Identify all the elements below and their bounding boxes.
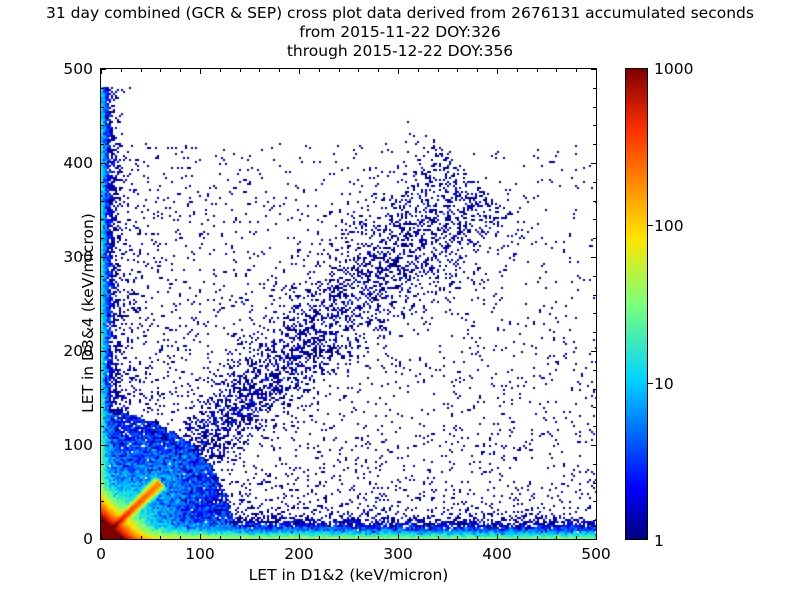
x-tick-label: 200 — [284, 545, 314, 563]
tick-mark — [279, 536, 280, 539]
tick-mark — [121, 69, 122, 72]
tick-mark — [438, 536, 439, 539]
tick-mark — [556, 69, 557, 72]
tick-mark — [299, 69, 300, 74]
tick-mark — [259, 536, 260, 539]
tick-mark — [101, 201, 104, 202]
tick-mark — [101, 88, 104, 89]
tick-mark — [101, 257, 106, 258]
tick-mark — [596, 69, 597, 74]
tick-mark — [593, 483, 596, 484]
tick-mark — [593, 182, 596, 183]
figure-title-line-2: from 2015-11-22 DOY:326 — [0, 23, 800, 42]
tick-mark — [593, 201, 596, 202]
tick-mark — [299, 534, 300, 539]
y-tick-label: 500 — [63, 60, 93, 78]
colorbar-frame — [625, 68, 648, 540]
tick-mark — [101, 295, 104, 296]
tick-mark — [358, 536, 359, 539]
tick-mark — [101, 276, 104, 277]
tick-mark — [457, 536, 458, 539]
tick-mark — [418, 69, 419, 72]
x-tick-label: 500 — [581, 545, 611, 563]
tick-mark — [101, 520, 104, 521]
tick-mark — [593, 276, 596, 277]
tick-mark — [101, 182, 104, 183]
tick-mark — [160, 536, 161, 539]
tick-mark — [596, 534, 597, 539]
tick-mark — [101, 69, 106, 70]
tick-mark — [259, 69, 260, 72]
tick-mark — [591, 445, 596, 446]
tick-mark — [180, 536, 181, 539]
tick-mark — [593, 295, 596, 296]
colorbar-tick-mark — [648, 225, 653, 226]
tick-mark — [591, 69, 596, 70]
figure-title: 31 day combined (GCR & SEP) cross plot d… — [0, 4, 800, 61]
x-tick-label: 100 — [185, 545, 215, 563]
tick-mark — [438, 69, 439, 72]
y-axis-label: LET in D3&4 (keV/micron) — [79, 77, 97, 549]
tick-mark — [537, 536, 538, 539]
tick-mark — [240, 69, 241, 72]
tick-mark — [398, 534, 399, 539]
x-tick-label: 0 — [96, 545, 106, 563]
tick-mark — [101, 332, 104, 333]
tick-mark — [517, 69, 518, 72]
colorbar-tick-mark — [648, 383, 653, 384]
tick-mark — [497, 534, 498, 539]
tick-mark — [593, 520, 596, 521]
tick-mark — [141, 69, 142, 72]
x-axis-label: LET in D1&2 (keV/micron) — [100, 566, 597, 584]
tick-mark — [593, 88, 596, 89]
tick-mark — [477, 536, 478, 539]
tick-mark — [593, 407, 596, 408]
tick-mark — [418, 536, 419, 539]
tick-mark — [101, 483, 104, 484]
tick-mark — [591, 539, 596, 540]
tick-mark — [101, 351, 106, 352]
tick-mark — [101, 464, 104, 465]
tick-mark — [517, 536, 518, 539]
tick-mark — [358, 69, 359, 72]
tick-mark — [101, 219, 104, 220]
tick-mark — [593, 332, 596, 333]
colorbar-tick-label: 1 — [654, 532, 664, 550]
tick-mark — [497, 69, 498, 74]
tick-mark — [593, 107, 596, 108]
density-scatter-plot — [101, 69, 596, 539]
tick-mark — [339, 536, 340, 539]
tick-mark — [576, 69, 577, 72]
figure-canvas: 31 day combined (GCR & SEP) cross plot d… — [0, 0, 800, 600]
tick-mark — [101, 370, 104, 371]
x-tick-label: 300 — [383, 545, 413, 563]
tick-mark — [220, 69, 221, 72]
tick-mark — [593, 125, 596, 126]
figure-title-line-1: 31 day combined (GCR & SEP) cross plot d… — [0, 4, 800, 23]
tick-mark — [101, 539, 106, 540]
tick-mark — [477, 69, 478, 72]
tick-mark — [576, 536, 577, 539]
tick-mark — [398, 69, 399, 74]
tick-mark — [593, 144, 596, 145]
tick-mark — [101, 426, 104, 427]
tick-mark — [141, 536, 142, 539]
tick-mark — [591, 163, 596, 164]
tick-mark — [593, 464, 596, 465]
tick-mark — [101, 107, 104, 108]
tick-mark — [279, 69, 280, 72]
tick-mark — [593, 219, 596, 220]
tick-mark — [319, 69, 320, 72]
tick-mark — [378, 536, 379, 539]
tick-mark — [591, 351, 596, 352]
colorbar — [625, 68, 648, 540]
tick-mark — [101, 407, 104, 408]
tick-mark — [200, 534, 201, 539]
x-tick-label: 400 — [482, 545, 512, 563]
tick-mark — [121, 536, 122, 539]
tick-mark — [101, 125, 104, 126]
figure-title-line-3: through 2015-12-22 DOY:356 — [0, 42, 800, 61]
tick-mark — [240, 536, 241, 539]
tick-mark — [593, 426, 596, 427]
tick-mark — [593, 501, 596, 502]
tick-mark — [101, 501, 104, 502]
tick-mark — [556, 536, 557, 539]
tick-mark — [101, 313, 104, 314]
tick-mark — [101, 389, 104, 390]
tick-mark — [220, 536, 221, 539]
colorbar-tick-label: 1000 — [654, 60, 693, 78]
tick-mark — [200, 69, 201, 74]
tick-mark — [591, 257, 596, 258]
tick-mark — [160, 69, 161, 72]
tick-mark — [593, 389, 596, 390]
tick-mark — [339, 69, 340, 72]
tick-mark — [537, 69, 538, 72]
tick-mark — [101, 238, 104, 239]
tick-mark — [593, 238, 596, 239]
tick-mark — [101, 144, 104, 145]
colorbar-tick-label: 100 — [654, 217, 684, 235]
tick-mark — [457, 69, 458, 72]
tick-mark — [378, 69, 379, 72]
tick-mark — [180, 69, 181, 72]
colorbar-tick-label: 10 — [654, 375, 674, 393]
plot-area — [100, 68, 597, 540]
tick-mark — [593, 370, 596, 371]
tick-mark — [101, 445, 106, 446]
tick-mark — [319, 536, 320, 539]
tick-mark — [101, 163, 106, 164]
tick-mark — [593, 313, 596, 314]
